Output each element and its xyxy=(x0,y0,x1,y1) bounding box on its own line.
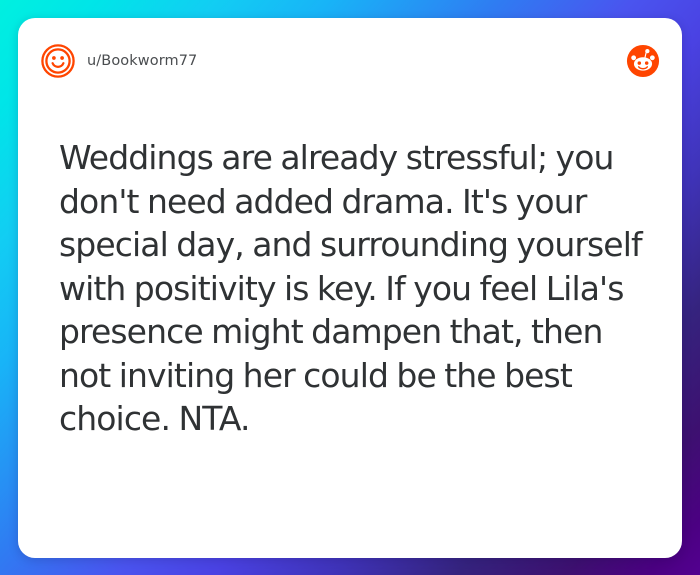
reddit-comment-card: u/Bookworm77 xyxy=(18,18,682,558)
brand-logo[interactable] xyxy=(626,44,660,78)
author-username-label: u/Bookworm77 xyxy=(87,54,197,69)
card-header: u/Bookworm77 xyxy=(40,38,660,84)
avatar[interactable] xyxy=(40,43,76,79)
post-body-text: Weddings are already stressful; you don'… xyxy=(59,136,646,441)
card-body: Weddings are already stressful; you don'… xyxy=(40,84,660,558)
reddit-snoo-logo-icon xyxy=(626,44,660,78)
smiley-face-avatar-icon xyxy=(40,43,76,79)
post-author[interactable]: u/Bookworm77 xyxy=(40,43,197,79)
screenshot-canvas: u/Bookworm77 xyxy=(0,0,700,575)
